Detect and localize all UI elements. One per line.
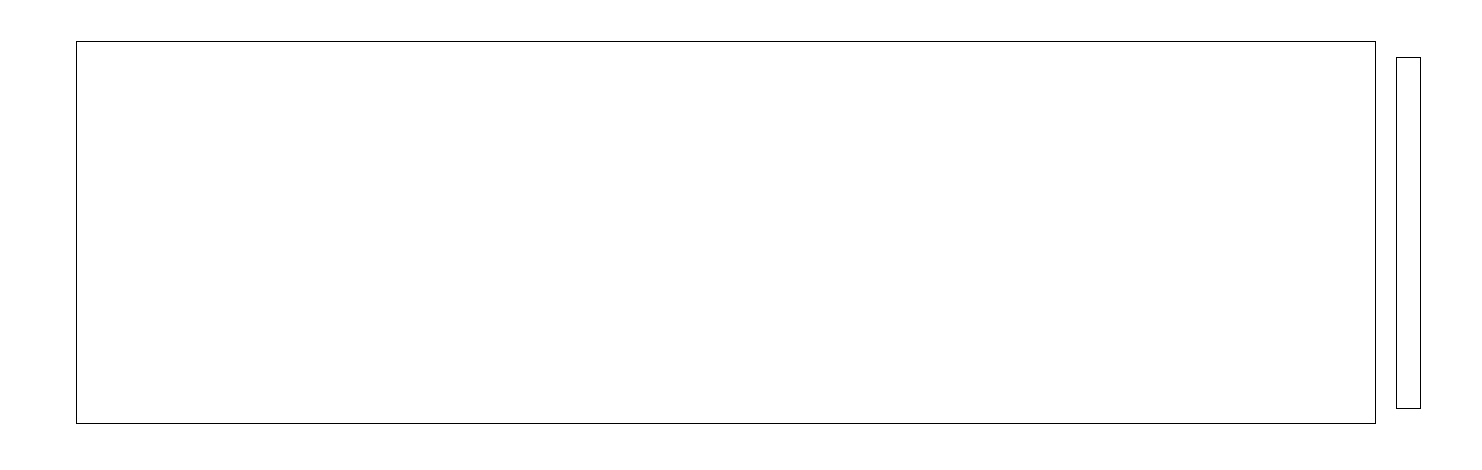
y-axis-label-wrap <box>2 41 36 424</box>
reflectivity-canvas <box>77 42 1375 423</box>
colorbar-title-wrap <box>1452 57 1482 409</box>
colorbar <box>1396 57 1421 409</box>
radar-cross-section-plot <box>76 41 1376 424</box>
reflectivity-field <box>77 42 1375 423</box>
